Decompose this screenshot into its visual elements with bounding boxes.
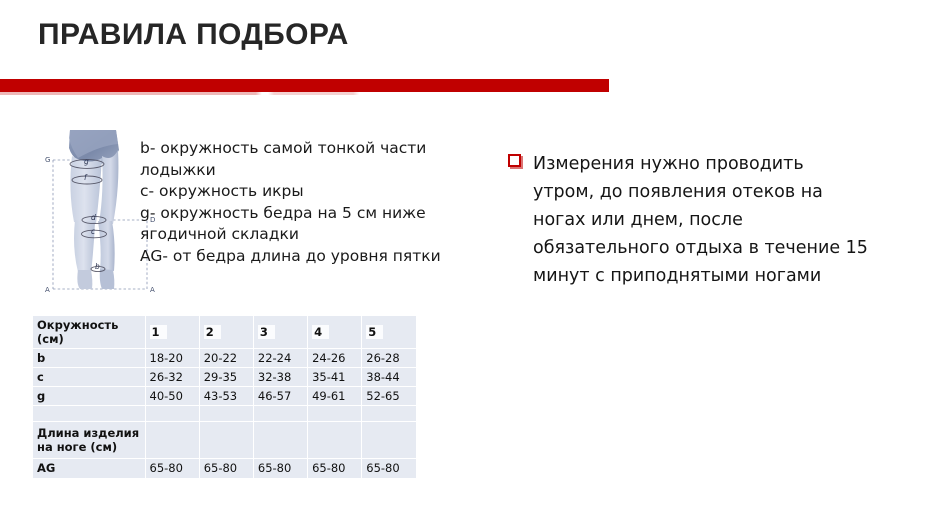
table-cell: 40-50 (145, 387, 199, 406)
bullet-line: обязательного отдыха в течение 15 (533, 234, 908, 262)
column-header-label: 1 (150, 325, 167, 339)
table-cell: 26-28 (362, 349, 416, 368)
table-cell: 20-22 (199, 349, 253, 368)
table-cell: 46-57 (253, 387, 307, 406)
instruction-bullet-text: Измерения нужно проводить утром, до появ… (508, 150, 908, 290)
column-header-label: 2 (204, 325, 221, 339)
column-header-label: 4 (312, 325, 329, 339)
table-cell: 52-65 (362, 387, 416, 406)
instruction-bullet-block: Измерения нужно проводить утром, до появ… (508, 150, 908, 290)
table-cell: 43-53 (199, 387, 253, 406)
table-section-row: Длина изделияна ноге (см) (33, 422, 416, 459)
svg-text:d: d (91, 213, 96, 222)
square-bullet-icon (508, 154, 521, 167)
table-column-header: 4 (308, 316, 362, 349)
legend-line: ягодичной складки (140, 224, 440, 246)
svg-text:b: b (95, 262, 100, 271)
table-cell (362, 406, 416, 422)
legend-line: AG- от бедра длина до уровня пятки (140, 246, 440, 268)
svg-text:g: g (84, 157, 89, 166)
table-cell (145, 422, 199, 459)
slide-canvas: ПРАВИЛА ПОДБОРА (0, 0, 928, 505)
bullet-line: Измерения нужно проводить (533, 150, 908, 178)
table-column-header: 3 (253, 316, 307, 349)
table-cell: 35-41 (308, 368, 362, 387)
table-header-row: Окружность (см) 1 2 3 4 5 (33, 316, 416, 349)
column-header-label: 5 (366, 325, 383, 339)
bullet-line: ногах или днем, после (533, 206, 908, 234)
section-label-line2: на ноге (см) (37, 440, 117, 454)
table-spacer-row (33, 406, 416, 422)
table-cell: 65-80 (362, 459, 416, 478)
table-cell: 18-20 (145, 349, 199, 368)
accent-divider-shadow (0, 92, 609, 95)
table-cell (308, 406, 362, 422)
svg-text:G: G (45, 156, 50, 164)
section-label-line1: Длина изделия (37, 426, 139, 440)
row-label: b (33, 349, 145, 368)
legend-line: c- окружность икры (140, 181, 440, 203)
row-label: g (33, 387, 145, 406)
measurement-legend: b- окружность самой тонкой части лодыжки… (140, 138, 440, 267)
table-column-header: 1 (145, 316, 199, 349)
bullet-line: минут с приподнятыми ногами (533, 262, 908, 290)
svg-text:A: A (45, 286, 50, 294)
table-cell (145, 406, 199, 422)
svg-text:A: A (150, 286, 155, 294)
table-row: b 18-20 20-22 22-24 24-26 26-28 (33, 349, 416, 368)
table-cell: 26-32 (145, 368, 199, 387)
table-cell: 65-80 (199, 459, 253, 478)
row-label: c (33, 368, 145, 387)
page-title: ПРАВИЛА ПОДБОРА (38, 18, 349, 52)
table-cell (308, 422, 362, 459)
table-column-header: 2 (199, 316, 253, 349)
table-row: AG 65-80 65-80 65-80 65-80 65-80 (33, 459, 416, 478)
column-header-label: 3 (258, 325, 275, 339)
table-cell (199, 406, 253, 422)
table-cell: 65-80 (253, 459, 307, 478)
table-column-header: 5 (362, 316, 416, 349)
legend-line: b- окружность самой тонкой части (140, 138, 440, 160)
table-cell: 22-24 (253, 349, 307, 368)
table-cell (253, 406, 307, 422)
table-cell (253, 422, 307, 459)
table-cell: 38-44 (362, 368, 416, 387)
legend-line: g- окружность бедра на 5 см ниже (140, 203, 440, 225)
table-header-label: Окружность (см) (33, 316, 145, 349)
table-cell: 65-80 (308, 459, 362, 478)
svg-text:c: c (91, 227, 96, 236)
legend-line: лодыжки (140, 160, 440, 182)
table-cell (199, 422, 253, 459)
table-cell: 24-26 (308, 349, 362, 368)
section-label: Длина изделияна ноге (см) (33, 422, 145, 459)
table-row: g 40-50 43-53 46-57 49-61 52-65 (33, 387, 416, 406)
table-cell: 32-38 (253, 368, 307, 387)
table-cell: 65-80 (145, 459, 199, 478)
size-chart-table: Окружность (см) 1 2 3 4 5 b 18-20 20-22 … (33, 316, 416, 478)
table-cell (362, 422, 416, 459)
row-label: AG (33, 459, 145, 478)
table-cell: 29-35 (199, 368, 253, 387)
table-row: c 26-32 29-35 32-38 35-41 38-44 (33, 368, 416, 387)
accent-divider-bar (0, 79, 609, 92)
bullet-line: утром, до появления отеков на (533, 178, 908, 206)
row-label (33, 406, 145, 422)
table-cell: 49-61 (308, 387, 362, 406)
